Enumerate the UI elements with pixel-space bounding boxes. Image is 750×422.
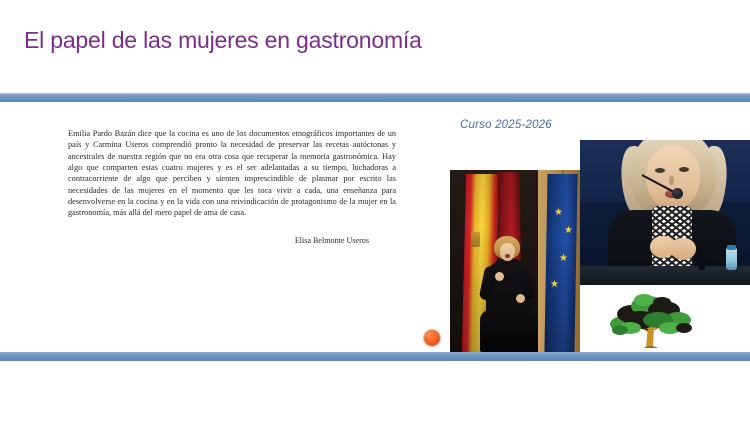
water-bottle-cap <box>727 245 736 250</box>
quote-block: Emilia Pardo Bazán dice que la cocina es… <box>68 128 396 245</box>
title-zone: El papel de las mujeres en gastronomía <box>0 0 750 93</box>
olive-tree-illustration <box>596 286 706 352</box>
orange-circle-bullet-icon <box>424 330 440 346</box>
singer-right-hand <box>516 294 525 303</box>
slide-footer: Elisa Belmonte Useros Catedrática de la … <box>0 361 750 422</box>
speaker-right-eye <box>679 167 689 172</box>
speaker-right-hand <box>670 238 696 260</box>
singer-face <box>500 243 515 261</box>
speaker-desk <box>580 266 750 285</box>
speaker-microphone-icon <box>672 188 683 199</box>
page-title: El papel de las mujeres en gastronomía <box>24 27 422 54</box>
quote-attribution: Elisa Belmonte Useros <box>68 236 396 245</box>
speaker-nose <box>669 176 674 185</box>
top-divider-rule <box>0 93 750 102</box>
course-label: Curso 2025-2026 <box>460 119 552 131</box>
eu-star-icon: ★ <box>564 226 573 236</box>
bottom-divider-rule <box>0 352 750 361</box>
top-divider-highlight <box>0 93 750 94</box>
quote-text: Emilia Pardo Bazán dice que la cocina es… <box>68 128 396 219</box>
singer-left-hand <box>495 272 504 281</box>
eu-star-icon: ★ <box>554 208 563 218</box>
eu-star-icon: ★ <box>559 254 568 264</box>
table-microphone <box>698 248 705 270</box>
singer-mouth <box>505 254 510 258</box>
singer-skirt <box>480 310 538 352</box>
speaker-left-eye <box>655 168 665 173</box>
photo-woman-speaking-at-panel <box>580 140 750 285</box>
spain-flag-crest <box>471 232 480 247</box>
tree-icon <box>596 286 706 352</box>
photo-woman-singing-with-flags: ★ ★ ★ ★ <box>450 170 580 352</box>
presentation-slide: El papel de las mujeres en gastronomía E… <box>0 0 750 422</box>
eu-star-icon: ★ <box>550 280 559 290</box>
water-bottle <box>726 248 737 270</box>
